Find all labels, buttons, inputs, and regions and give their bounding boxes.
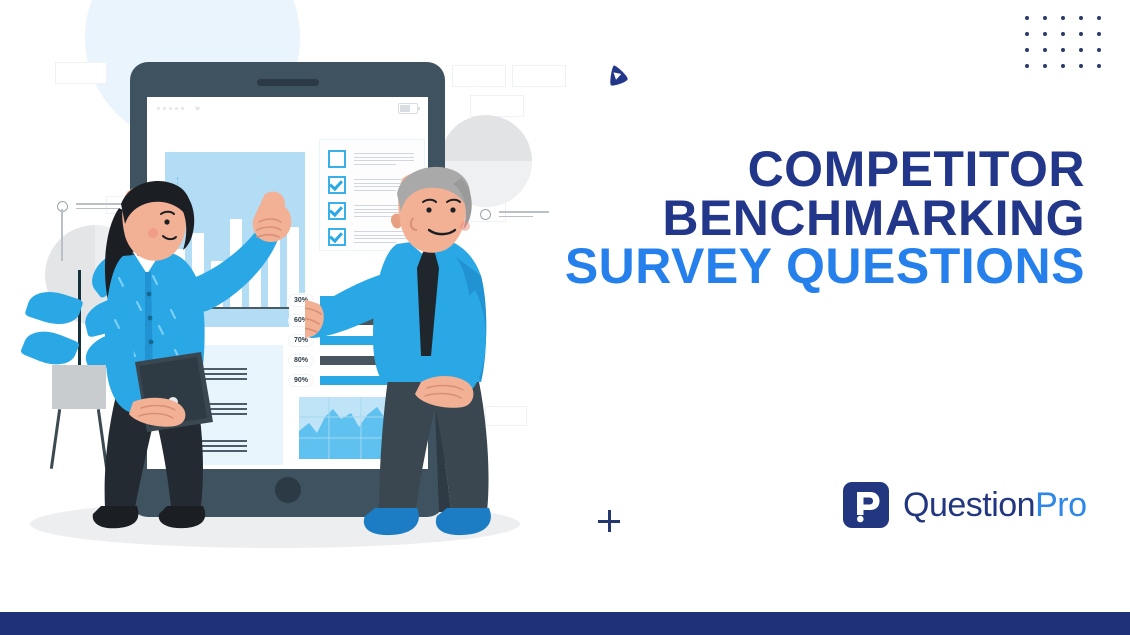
annotation-dot xyxy=(57,201,68,212)
bottom-bar xyxy=(0,612,1130,635)
play-triangle-icon xyxy=(602,60,632,90)
tablet-speaker xyxy=(257,79,319,86)
dot-grid xyxy=(1018,10,1108,74)
questionpro-mark-icon xyxy=(843,482,889,528)
page-title: COMPETITOR BENCHMARKING SURVEY QUESTIONS xyxy=(545,145,1085,291)
questionpro-logo[interactable]: QuestionPro xyxy=(843,482,1087,528)
survey-benchmarking-illustration: 30% 60% 70% 80% xyxy=(0,0,580,615)
plus-icon xyxy=(598,510,620,532)
logo-text-pro: Pro xyxy=(1035,486,1086,524)
signal-icon xyxy=(157,107,184,110)
person-woman-pointing xyxy=(75,170,305,560)
poster-canvas: 30% 60% 70% 80% xyxy=(0,0,1130,635)
questionpro-wordmark: QuestionPro xyxy=(903,486,1087,525)
person-man-presenting xyxy=(305,160,520,560)
battery-icon xyxy=(398,103,418,114)
headline-line-2: BENCHMARKING xyxy=(545,194,1085,243)
wifi-icon xyxy=(192,104,203,112)
status-bar xyxy=(147,97,428,119)
logo-text-question: Question xyxy=(903,486,1035,524)
headline-line-3: SURVEY QUESTIONS xyxy=(545,242,1085,291)
headline-line-1: COMPETITOR xyxy=(545,145,1085,194)
